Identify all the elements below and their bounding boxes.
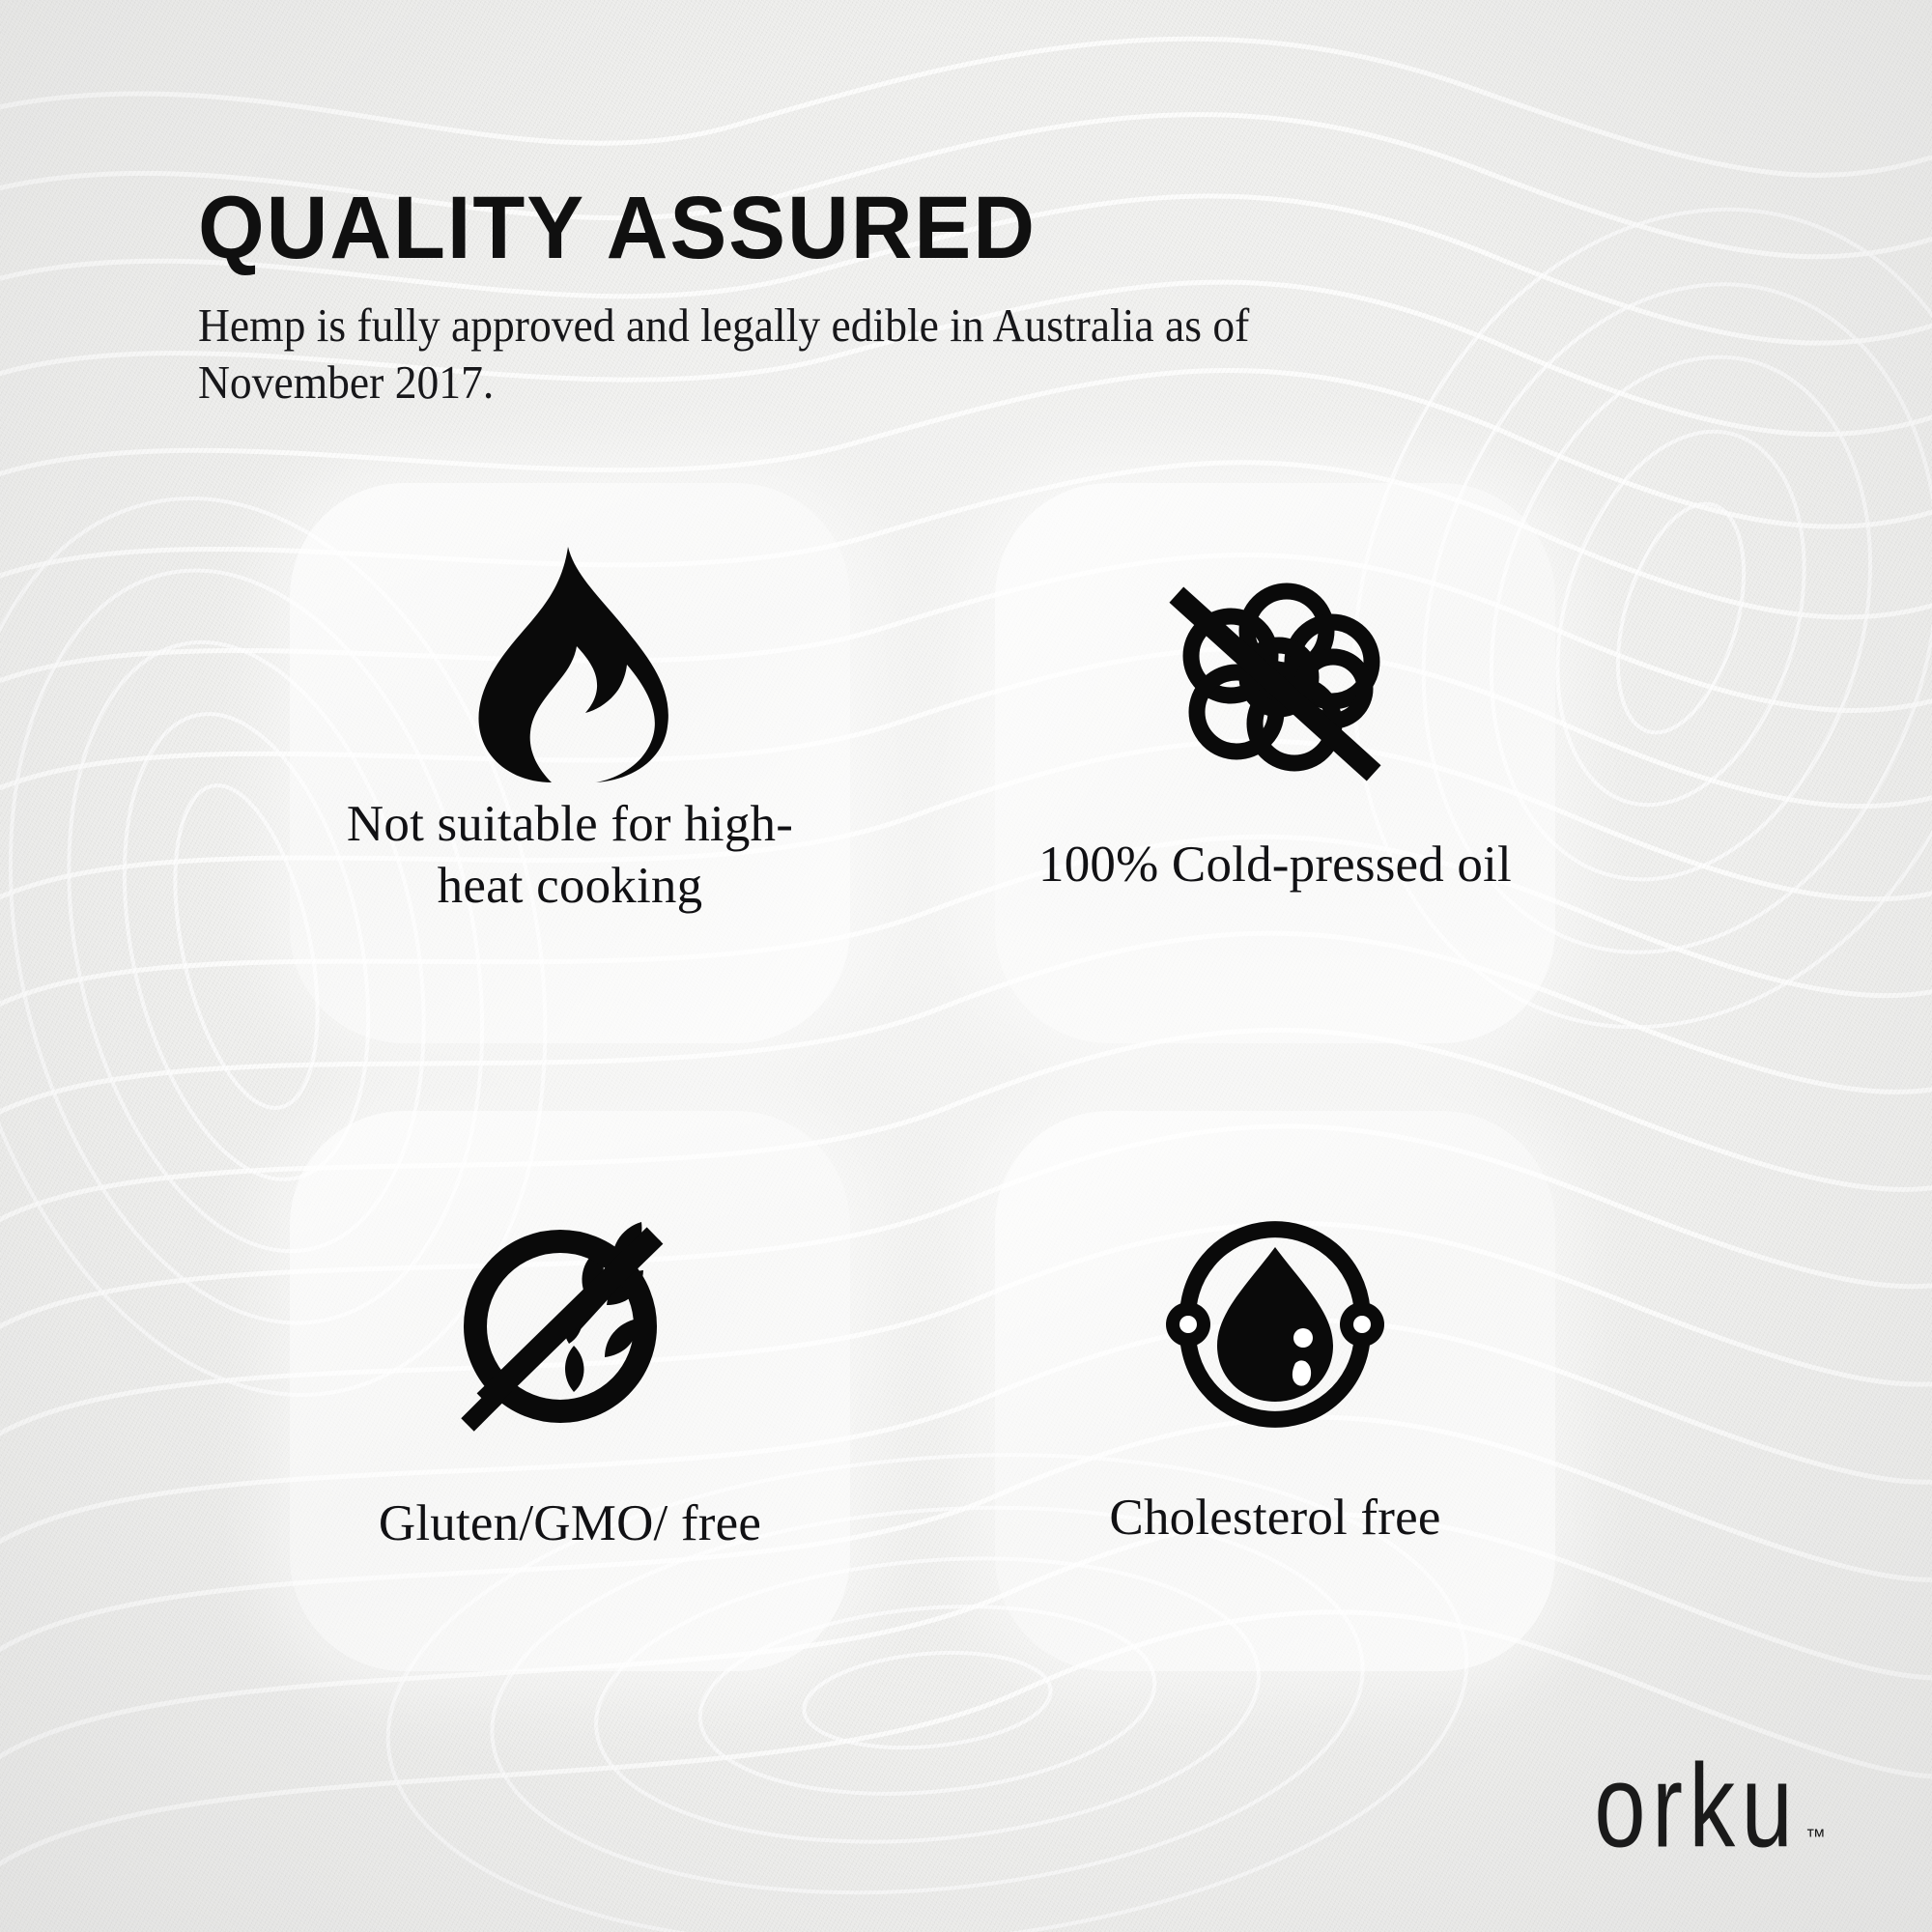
feature-card-label: 100% Cold-pressed oil: [1023, 835, 1527, 896]
feature-card-gluten-gmo-free: Gluten/GMO/ free: [290, 1111, 850, 1671]
no-heat-cluster-icon: [1154, 562, 1396, 804]
page-title: QUALITY ASSURED: [198, 184, 1496, 272]
feature-card-cholesterol-free: Cholesterol free: [995, 1111, 1555, 1671]
page-subtitle: Hemp is fully approved and legally edibl…: [198, 298, 1366, 412]
header-block: QUALITY ASSURED Hemp is fully approved a…: [198, 184, 1550, 412]
trademark-symbol: ™: [1805, 1826, 1826, 1849]
brand-logo: orku ™: [1577, 1773, 1826, 1857]
feature-card-label: Not suitable for high-heat cooking: [318, 794, 822, 917]
feature-card-not-suitable-high-heat: Not suitable for high-heat cooking: [290, 483, 850, 1043]
flame-icon: [449, 543, 691, 784]
feature-card-cold-pressed: 100% Cold-pressed oil: [995, 483, 1555, 1043]
no-wheat-gluten-icon: [449, 1202, 691, 1443]
droplet-orbit-icon: [1154, 1196, 1396, 1437]
feature-card-label: Cholesterol free: [1023, 1488, 1527, 1549]
brand-wordmark: orku: [1594, 1757, 1799, 1857]
feature-card-grid: Not suitable for high-heat cooking: [290, 483, 1662, 1671]
feature-card-label: Gluten/GMO/ free: [318, 1493, 822, 1555]
